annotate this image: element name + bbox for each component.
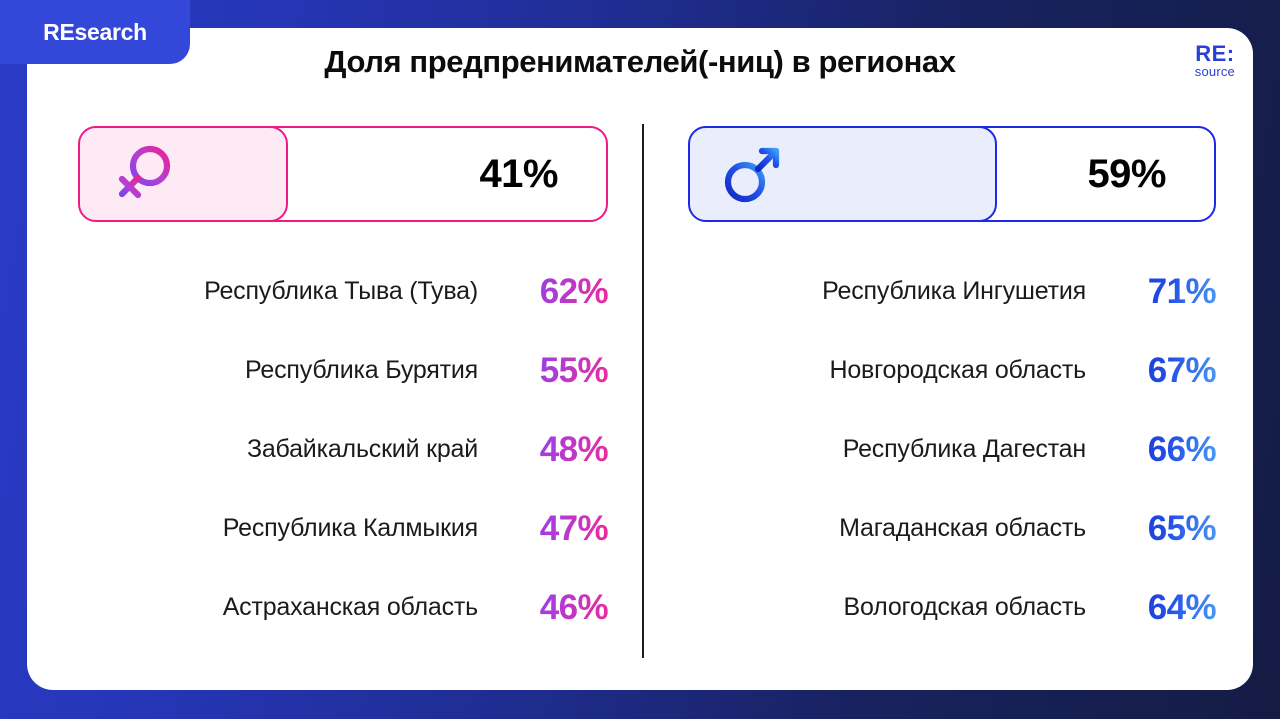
male-region-list: Республика Ингушетия 71% Новгородская об…: [688, 252, 1216, 647]
list-item: Вологодская область 64%: [688, 568, 1216, 647]
logo-bottom-text: source: [1195, 65, 1235, 79]
region-name: Республика Тыва (Тува): [204, 277, 478, 306]
region-name: Магаданская область: [839, 514, 1086, 543]
female-gender-icon: [110, 141, 176, 207]
list-item: Республика Тыва (Тува) 62%: [78, 252, 608, 331]
female-column: 41% Республика Тыва (Тува) 62% Республик…: [78, 126, 608, 647]
region-percent: 64%: [1112, 588, 1216, 628]
list-item: Магаданская область 65%: [688, 489, 1216, 568]
region-percent: 67%: [1112, 351, 1216, 391]
region-percent: 71%: [1112, 272, 1216, 312]
list-item: Республика Ингушетия 71%: [688, 252, 1216, 331]
research-badge-label: REsearch: [43, 19, 147, 46]
male-share-percent: 59%: [1087, 152, 1166, 197]
column-divider: [642, 124, 644, 658]
region-name: Республика Калмыкия: [223, 514, 478, 543]
logo-top-text: RE:: [1195, 42, 1235, 65]
female-share-bar: 41%: [78, 126, 608, 222]
region-percent: 66%: [1112, 430, 1216, 470]
female-region-list: Республика Тыва (Тува) 62% Республика Бу…: [78, 252, 608, 647]
list-item: Астраханская область 46%: [78, 568, 608, 647]
list-item: Республика Калмыкия 47%: [78, 489, 608, 568]
list-item: Новгородская область 67%: [688, 331, 1216, 410]
region-percent: 65%: [1112, 509, 1216, 549]
region-name: Новгородская область: [830, 356, 1087, 385]
region-name: Забайкальский край: [247, 435, 478, 464]
resource-logo: RE: source: [1195, 42, 1235, 79]
region-percent: 55%: [504, 351, 608, 391]
region-percent: 62%: [504, 272, 608, 312]
region-percent: 47%: [504, 509, 608, 549]
region-name: Республика Бурятия: [245, 356, 478, 385]
female-share-percent: 41%: [479, 152, 558, 197]
research-badge: REsearch: [0, 0, 190, 64]
page-title: Доля предпренимателей(-ниц) в регионах: [0, 44, 1280, 80]
list-item: Республика Дагестан 66%: [688, 410, 1216, 489]
list-item: Забайкальский край 48%: [78, 410, 608, 489]
region-name: Вологодская область: [844, 593, 1086, 622]
region-name: Астраханская область: [223, 593, 478, 622]
male-share-bar: 59%: [688, 126, 1216, 222]
male-column: 59% Республика Ингушетия 71% Новгородска…: [688, 126, 1216, 647]
region-percent: 48%: [504, 430, 608, 470]
region-name: Республика Ингушетия: [822, 277, 1086, 306]
region-name: Республика Дагестан: [843, 435, 1086, 464]
list-item: Республика Бурятия 55%: [78, 331, 608, 410]
region-percent: 46%: [504, 588, 608, 628]
male-gender-icon: [720, 141, 786, 207]
